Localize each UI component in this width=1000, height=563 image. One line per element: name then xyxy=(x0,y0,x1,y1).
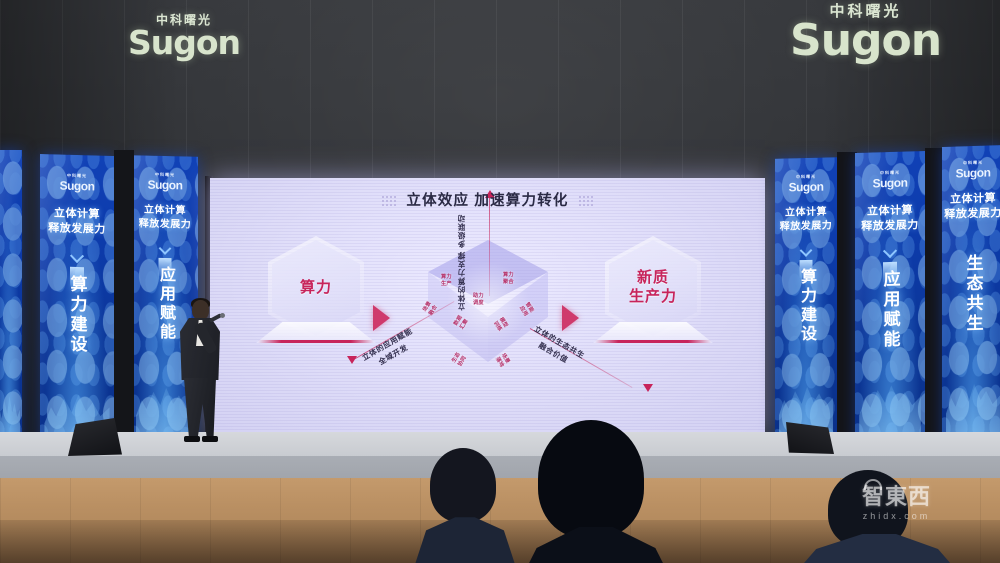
audience-member-2-head xyxy=(538,420,644,538)
banner-pylon-0 xyxy=(0,150,22,468)
banner-pylon-1: 中科曙光 Sugon 立体计算 释放发展力 算力建设 xyxy=(40,154,114,466)
watermark: 智東西 zhidx.com xyxy=(862,486,931,521)
led-presentation-screen: 立体效应 加速算力转化 算力 算力 生产 算力 聚合 xyxy=(210,178,765,436)
pylon-5-logo-english: Sugon xyxy=(942,165,1000,181)
pylon-gap-right-2 xyxy=(925,148,943,460)
watermark-url: zhidx.com xyxy=(862,511,931,521)
presenter-microphone-head xyxy=(220,313,225,318)
hexagon-right-label-line2: 生产力 xyxy=(629,288,677,305)
wall-logo-right-english: Sugon xyxy=(790,21,941,61)
hexagon-right-label-line1: 新质 xyxy=(637,269,669,286)
conference-photo: 中科曙光 Sugon 中科曙光 Sugon 中科曙光 Sugon 立体计算 释放… xyxy=(0,0,1000,563)
presenter-head xyxy=(192,300,209,320)
central-isometric-cube xyxy=(425,240,551,390)
pylon-4-headline: 立体计算 释放发展力 xyxy=(855,203,925,235)
hexagon-left-plinth xyxy=(256,322,376,352)
pylon-2-logo: 中科曙光 Sugon xyxy=(132,171,198,193)
hexagon-right-plinth xyxy=(593,322,713,352)
audience-member-2 xyxy=(500,420,690,563)
dot-grid-right-icon xyxy=(578,195,594,207)
presenter-shoe-right xyxy=(202,436,218,442)
pylon-1-logo: 中科曙光 Sugon xyxy=(40,172,114,194)
pylon-4-vertical-label: 应用赋能 xyxy=(878,270,903,351)
cube-label-2-line1: 助力 xyxy=(473,293,484,300)
hexagon-right-plinth-accent xyxy=(595,340,711,343)
banner-pylon-5: 中科曙光 Sugon 立体计算 释放发展力 生态共生 xyxy=(942,145,1000,455)
diagonal-left-label: 立体的应用赋能 全域开发 xyxy=(360,325,421,373)
pylon-2-headline: 立体计算 释放发展力 xyxy=(132,203,198,232)
dot-grid-left-icon xyxy=(381,195,397,207)
pylon-3-logo: 中科曙光 Sugon xyxy=(775,173,837,195)
vertical-axis-label: 立体的算力支撑 多级联动 xyxy=(456,214,467,311)
pylon-1-logo-english: Sugon xyxy=(40,178,114,194)
presenter-shoe-left xyxy=(184,436,200,442)
pylon-5-headline-line1: 立体计算 xyxy=(942,191,1000,208)
cube-label-1-line2: 聚合 xyxy=(503,279,514,286)
pylon-5-headline-line2: 释放发展力 xyxy=(942,206,1000,223)
cube-label-0-line1: 算力 xyxy=(441,274,452,281)
pylon-1-headline-line2: 释放发展力 xyxy=(40,221,114,238)
pylon-4-headline-line2: 释放发展力 xyxy=(855,218,925,235)
flow-arrow-2-icon xyxy=(562,305,579,331)
node-right-new-productive-forces: 新质 生产力 xyxy=(605,236,701,340)
hexagon-left-inner: 算力 xyxy=(272,240,360,336)
cube-label-2-line2: 调度 xyxy=(473,300,484,307)
pylon-5-vertical-label: 生态共生 xyxy=(961,254,986,335)
slide-title-row: 立体效应 加速算力转化 xyxy=(210,189,765,210)
pylon-4-logo: 中科曙光 Sugon xyxy=(855,169,925,191)
pylon-2-vertical-label: 应用赋能 xyxy=(153,266,177,343)
hexagon-left-label: 算力 xyxy=(300,279,332,298)
diagonal-left-arrow-icon xyxy=(347,356,357,364)
wall-logo-right: 中科曙光 Sugon xyxy=(790,4,941,61)
hexagon-right-label: 新质 生产力 xyxy=(629,269,677,307)
hexagon-right-inner: 新质 生产力 xyxy=(609,240,697,336)
pylon-3-headline-line2: 释放发展力 xyxy=(775,219,837,234)
pylon-3-logo-english: Sugon xyxy=(775,179,837,195)
presenter-trousers xyxy=(184,378,216,440)
watermark-wifi-icon xyxy=(864,479,882,490)
banner-pylon-3: 中科曙光 Sugon 立体计算 释放发展力 算力建设 xyxy=(775,157,837,455)
pylon-2-headline-line2: 释放发展力 xyxy=(132,217,198,232)
pylon-3-vertical-label: 算力建设 xyxy=(794,268,818,345)
presenter xyxy=(176,300,232,446)
audience-member-1-head xyxy=(430,448,496,522)
wall-logo-left: 中科曙光 Sugon xyxy=(128,14,240,58)
pylon-5-logo: 中科曙光 Sugon xyxy=(942,159,1000,181)
pylon-gap-left xyxy=(114,150,134,468)
slide-title-text: 立体效应 加速算力转化 xyxy=(406,193,568,209)
banner-pylon-4: 中科曙光 Sugon 立体计算 释放发展力 应用赋能 xyxy=(855,151,925,455)
cube-label-0: 算力 生产 xyxy=(441,274,452,287)
cube-label-1: 算力 聚合 xyxy=(503,272,514,285)
pylon-2-logo-english: Sugon xyxy=(132,177,198,193)
cube-label-2: 助力 调度 xyxy=(473,293,484,306)
pylon-5-headline: 立体计算 释放发展力 xyxy=(942,191,1000,223)
pylon-1-headline: 立体计算 释放发展力 xyxy=(40,206,114,238)
vertical-axis-line xyxy=(489,196,490,296)
node-left-computing-power: 算力 xyxy=(268,236,364,340)
pylon-4-logo-english: Sugon xyxy=(855,175,925,191)
pylon-gap-right-1 xyxy=(837,152,857,460)
hexagon-left-plinth-accent xyxy=(258,340,374,343)
pylon-1-vertical-label: 算力建设 xyxy=(65,275,90,356)
pylon-3-headline: 立体计算 释放发展力 xyxy=(775,205,837,234)
cube-label-0-line2: 生产 xyxy=(441,281,452,288)
cube-label-1-line1: 算力 xyxy=(503,272,514,279)
flow-arrow-1-icon xyxy=(373,305,390,331)
wall-logo-left-english: Sugon xyxy=(128,28,240,58)
diagonal-right-arrow-icon xyxy=(643,384,653,392)
